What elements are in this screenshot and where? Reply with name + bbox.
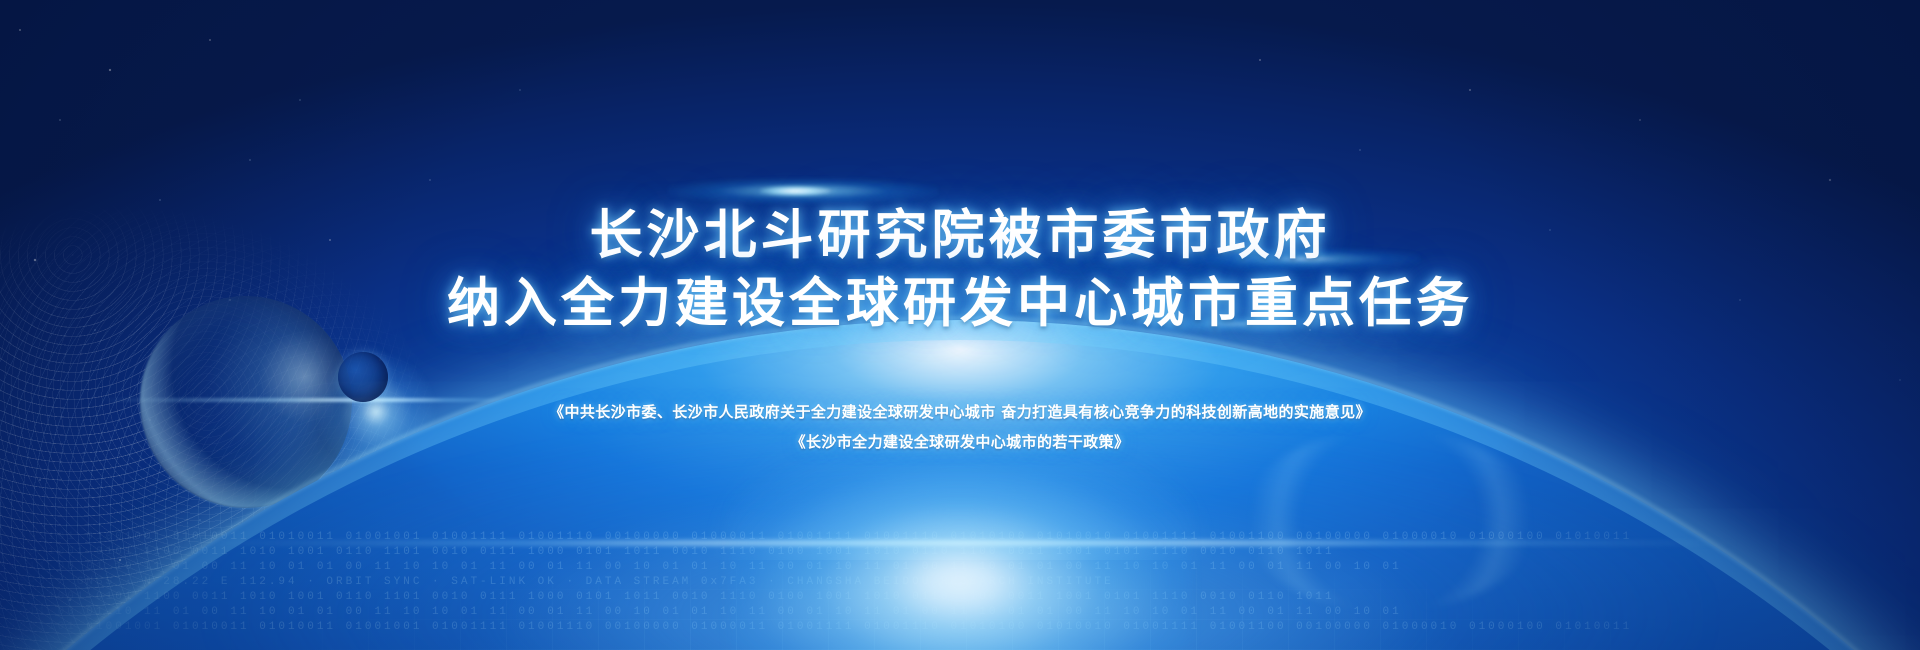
- page-title: 长沙北斗研究院被市委市政府 纳入全力建设全球研发中心城市重点任务: [447, 202, 1473, 338]
- subtitle-group: 《中共长沙市委、长沙市人民政府关于全力建设全球研发中心城市 奋力打造具有核心竞争…: [549, 397, 1371, 457]
- page-title-line-2: 纳入全力建设全球研发中心城市重点任务: [447, 270, 1473, 338]
- hero-banner: 01001101 01001001 01010011 01010011 0100…: [0, 0, 1920, 650]
- banner-content: 长沙北斗研究院被市委市政府 纳入全力建设全球研发中心城市重点任务 《中共长沙市委…: [0, 0, 1920, 650]
- subtitle-policy-opinion: 《中共长沙市委、长沙市人民政府关于全力建设全球研发中心城市 奋力打造具有核心竞争…: [549, 397, 1371, 427]
- page-title-line-1: 长沙北斗研究院被市委市政府: [447, 202, 1473, 270]
- subtitle-policy-measures: 《长沙市全力建设全球研发中心城市的若干政策》: [549, 427, 1371, 457]
